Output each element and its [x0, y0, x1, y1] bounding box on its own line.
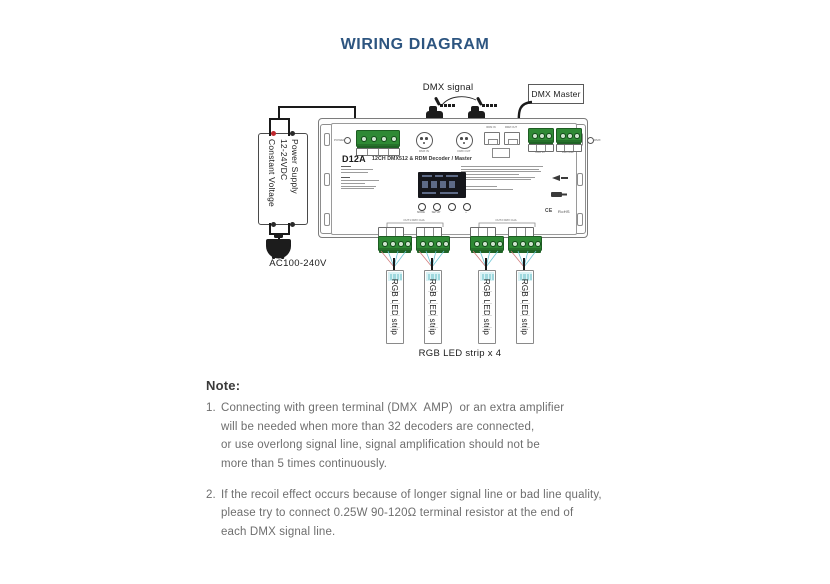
led-strip-caption: RGB LED strip x 4 — [360, 348, 560, 359]
psu-input-neutral-terminal — [290, 222, 295, 227]
rj45-port-out[interactable] — [504, 132, 520, 145]
notes-list: 1. Connecting with green terminal (DMX A… — [206, 399, 676, 541]
device-model-name: D12A — [342, 154, 366, 164]
notes-heading: Note: — [206, 378, 676, 393]
rgb-led-strip-label: RGB LED strip — [517, 271, 533, 343]
status-led-indicator — [587, 137, 594, 144]
dmx-amp-terminal[interactable] — [556, 128, 582, 143]
rohs-mark: RoHS — [558, 209, 570, 214]
note-item: 1. Connecting with green terminal (DMX A… — [206, 399, 676, 474]
dmx-amp-terminal-label: DMX AMP — [554, 151, 582, 154]
dmx-in-terminal[interactable] — [528, 128, 554, 143]
rj45-port-in[interactable] — [484, 132, 500, 145]
rj45-out-label: RDM OUT — [502, 126, 520, 129]
rgb-led-strip-label: RGB LED strip — [425, 271, 441, 343]
note-line: or use overlong signal line, signal ampl… — [221, 436, 676, 455]
psu-out-wire-right-vertical — [288, 118, 290, 136]
note-line: please try to connect 0.25W 90-120Ω term… — [221, 504, 676, 523]
setup-button-label: SETUP — [429, 211, 443, 214]
wiring-diagram-page: WIRING DIAGRAM Power Supply 12-24VDC Con… — [0, 0, 830, 584]
xlr-socket-in[interactable] — [416, 132, 433, 149]
power-plug-icon — [262, 233, 296, 259]
ac-input-label: AC100-240V — [238, 258, 358, 269]
dmx-master-label-box: DMX Master — [528, 84, 584, 104]
power-supply-line-1: Power Supply — [289, 139, 300, 224]
psu-input-live-terminal — [271, 222, 276, 227]
rgb-led-strip: RGB LED strip — [516, 270, 534, 344]
xlr-socket-out-label: DMX OUT — [450, 149, 478, 153]
note-body: If the recoil effect occurs because of l… — [221, 486, 676, 542]
status-led-label: DMX — [594, 138, 601, 142]
rgb-led-strip: RGB LED strip — [424, 270, 442, 344]
mode-button-label: MODE — [414, 211, 428, 214]
device-spec-text-left — [341, 166, 383, 191]
device-model-subtitle: 12CH DMX512 & RDM Decoder / Master — [372, 156, 472, 162]
psu-out-wire-left-vertical — [269, 118, 271, 136]
note-line: more than 5 times continuously. — [221, 455, 676, 474]
rgb-led-strip: RGB LED strip — [478, 270, 496, 344]
remote-control-icon — [551, 174, 569, 182]
dimmer-icon — [551, 190, 567, 199]
xlr-socket-in-label: DMX IN — [410, 149, 438, 153]
psu-output-positive-terminal — [271, 131, 276, 136]
lcd-screen — [418, 172, 466, 198]
page-title: WIRING DIAGRAM — [0, 36, 830, 54]
note-number: 2. — [206, 486, 221, 542]
config-switch-block[interactable] — [492, 148, 510, 158]
ce-mark: CE — [545, 208, 553, 214]
notes-section: Note: 1. Connecting with green terminal … — [206, 378, 676, 553]
rgb-led-strip-label: RGB LED strip — [479, 271, 495, 343]
dmx-signal-label: DMX signal — [398, 82, 498, 93]
note-item: 2. If the recoil effect occurs because o… — [206, 486, 676, 542]
mode-button[interactable] — [418, 203, 426, 211]
note-line: will be needed when more than 32 decoder… — [221, 418, 676, 437]
power-supply-line-3: Constant Voltage — [266, 139, 277, 224]
power-input-terminal[interactable] — [356, 130, 400, 147]
rgb-led-strip-label: RGB LED strip — [387, 271, 403, 343]
xlr-socket-out[interactable] — [456, 132, 473, 149]
decrement-button-label: - — [444, 211, 458, 214]
psu-to-device-wire-horizontal — [278, 106, 356, 108]
increment-button-label: + — [459, 211, 473, 214]
power-led-label: POWER — [334, 138, 345, 142]
rgb-led-strip: RGB LED strip — [386, 270, 404, 344]
power-supply-label: Power Supply 12-24VDC Constant Voltage — [259, 134, 307, 224]
psu-output-negative-terminal — [290, 131, 295, 136]
dmx-in-terminal-label: DMX IN — [526, 151, 554, 154]
power-supply-line-2: 12-24VDC — [277, 139, 288, 224]
note-line: If the recoil effect occurs because of l… — [221, 486, 676, 505]
setup-button[interactable] — [433, 203, 441, 211]
power-supply-block: Power Supply 12-24VDC Constant Voltage — [258, 133, 308, 225]
note-line: Connecting with green terminal (DMX AMP)… — [221, 399, 676, 418]
decrement-button[interactable] — [448, 203, 456, 211]
device-spec-text-right — [461, 166, 545, 192]
rj45-in-label: RDM IN — [482, 126, 500, 129]
note-line: each DMX signal line. — [221, 523, 676, 542]
note-body: Connecting with green terminal (DMX AMP)… — [221, 399, 676, 474]
note-number: 1. — [206, 399, 221, 474]
increment-button[interactable] — [463, 203, 471, 211]
